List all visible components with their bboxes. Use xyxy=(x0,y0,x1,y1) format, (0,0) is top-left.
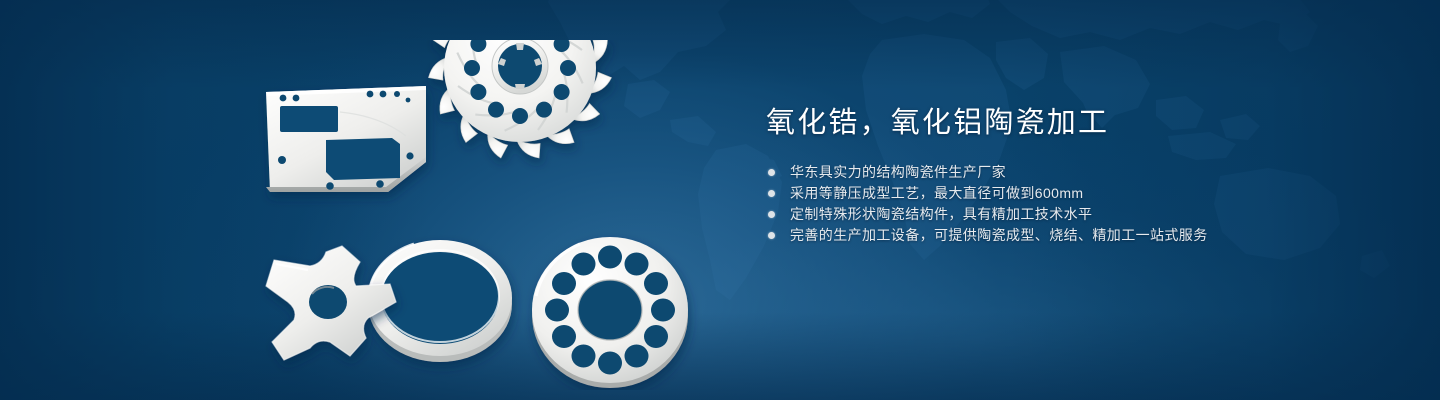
hero-banner: 氧化锆，氧化铝陶瓷加工 华东具实力的结构陶瓷件生产厂家 采用等静压成型工艺，最大… xyxy=(0,0,1440,400)
product-ceramic-impeller xyxy=(427,40,613,162)
product-photo-group xyxy=(230,40,730,390)
bullet-dot-icon xyxy=(768,190,775,197)
banner-text-block: 氧化锆，氧化铝陶瓷加工 华东具实力的结构陶瓷件生产厂家 采用等静压成型工艺，最大… xyxy=(764,106,1384,246)
bullet-dot-icon xyxy=(768,169,775,176)
list-item-label: 华东具实力的结构陶瓷件生产厂家 xyxy=(790,164,1006,180)
list-item: 定制特殊形状陶瓷结构件，具有精加工技术水平 xyxy=(764,204,1384,225)
page-title: 氧化锆，氧化铝陶瓷加工 xyxy=(766,106,1384,140)
list-item: 华东具实力的结构陶瓷件生产厂家 xyxy=(764,162,1384,183)
bullet-dot-icon xyxy=(768,211,775,218)
bullet-dot-icon xyxy=(768,232,775,239)
product-ceramic-plate xyxy=(266,86,426,192)
list-item-label: 完善的生产加工设备，可提供陶瓷成型、烧结、精加工一站式服务 xyxy=(790,227,1208,243)
list-item: 采用等静压成型工艺，最大直径可做到600mm xyxy=(764,183,1384,204)
list-item: 完善的生产加工设备，可提供陶瓷成型、烧结、精加工一站式服务 xyxy=(764,225,1384,246)
list-item-label: 定制特殊形状陶瓷结构件，具有精加工技术水平 xyxy=(790,206,1092,222)
product-ceramic-cross-plate xyxy=(266,246,396,360)
product-ceramic-flange-disc xyxy=(532,237,688,388)
list-item-label: 采用等静压成型工艺，最大直径可做到600mm xyxy=(790,185,1083,201)
feature-list: 华东具实力的结构陶瓷件生产厂家 采用等静压成型工艺，最大直径可做到600mm 定… xyxy=(764,162,1384,246)
